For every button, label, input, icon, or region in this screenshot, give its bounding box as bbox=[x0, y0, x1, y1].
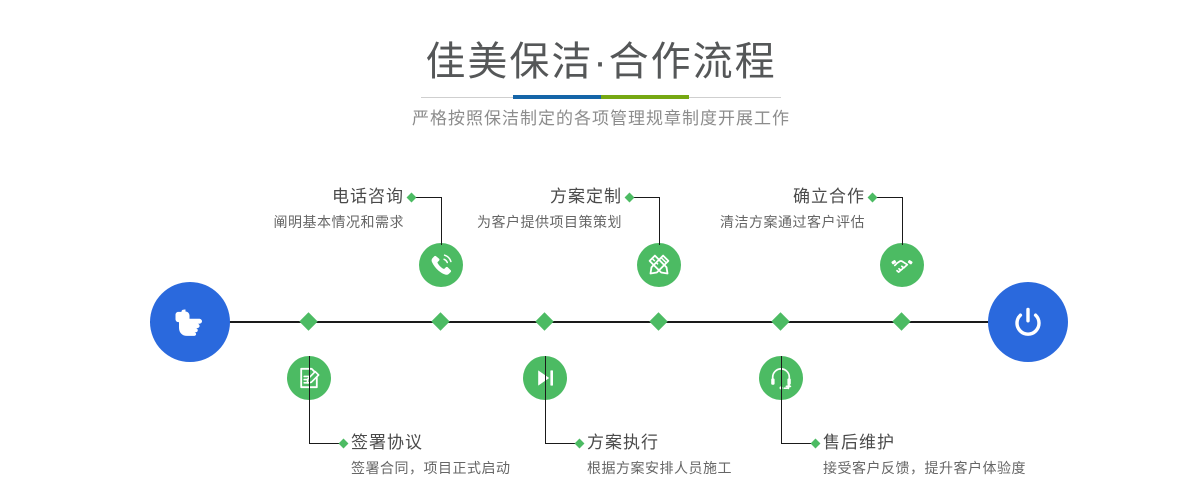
timeline-marker-1 bbox=[431, 312, 449, 330]
timeline-marker-6 bbox=[892, 312, 910, 330]
timeline-start-cap bbox=[150, 282, 230, 362]
step-node-6[interactable] bbox=[880, 243, 924, 287]
step-label-6: 确立合作 清洁方案通过客户评估 bbox=[613, 186, 865, 233]
phone-call-icon bbox=[428, 252, 454, 278]
timeline-axis bbox=[150, 321, 1052, 323]
connector-horizontal-5 bbox=[781, 443, 814, 444]
process-flow-infographic: 佳美保洁·合作流程 严格按照保洁制定的各项管理规章制度开展工作 bbox=[0, 0, 1202, 502]
power-icon bbox=[1006, 300, 1050, 344]
step-title-5: 售后维护 bbox=[823, 432, 1123, 454]
title-divider bbox=[421, 95, 781, 100]
connector-vertical-5 bbox=[781, 356, 782, 443]
timeline-marker-5 bbox=[771, 312, 789, 330]
step-node-1[interactable] bbox=[419, 243, 463, 287]
timeline-marker-4 bbox=[535, 312, 553, 330]
step-label-5: 售后维护 接受客户反馈，提升客户体验度 bbox=[823, 432, 1123, 479]
step-desc-1: 阐明基本情况和需求 bbox=[150, 211, 404, 233]
connector-vertical-2 bbox=[309, 356, 310, 443]
divider-accent-green bbox=[601, 95, 689, 99]
handshake-icon bbox=[889, 252, 915, 278]
timeline-end-cap bbox=[988, 282, 1068, 362]
step-desc-5: 接受客户反馈，提升客户体验度 bbox=[823, 457, 1123, 479]
connector-dot-2 bbox=[339, 439, 349, 449]
step-node-3[interactable] bbox=[637, 243, 681, 287]
step-desc-2: 签署合同，项目正式启动 bbox=[351, 457, 611, 479]
divider-accent-blue bbox=[513, 95, 601, 99]
pencil-ruler-icon bbox=[646, 252, 672, 278]
connector-vertical-4 bbox=[545, 356, 546, 443]
connector-horizontal-2 bbox=[309, 443, 342, 444]
step-desc-4: 根据方案安排人员施工 bbox=[587, 457, 847, 479]
timeline-marker-3 bbox=[649, 312, 667, 330]
step-label-4: 方案执行 根据方案安排人员施工 bbox=[587, 432, 847, 479]
step-title-3: 方案定制 bbox=[370, 186, 622, 208]
timeline-marker-2 bbox=[299, 312, 317, 330]
step-desc-3: 为客户提供项目策策划 bbox=[370, 211, 622, 233]
step-title-1: 电话咨询 bbox=[150, 186, 404, 208]
step-desc-6: 清洁方案通过客户评估 bbox=[613, 211, 865, 233]
step-title-6: 确立合作 bbox=[613, 186, 865, 208]
connector-dot-6 bbox=[868, 193, 878, 203]
step-label-3: 方案定制 为客户提供项目策策划 bbox=[370, 186, 622, 233]
connector-vertical-6 bbox=[902, 197, 903, 245]
page-title: 佳美保洁·合作流程 bbox=[0, 36, 1202, 88]
pointing-hand-icon bbox=[168, 300, 212, 344]
page-subtitle: 严格按照保洁制定的各项管理规章制度开展工作 bbox=[0, 106, 1202, 132]
step-label-1: 电话咨询 阐明基本情况和需求 bbox=[150, 186, 404, 233]
connector-horizontal-4 bbox=[545, 443, 578, 444]
step-label-2: 签署协议 签署合同，项目正式启动 bbox=[351, 432, 611, 479]
